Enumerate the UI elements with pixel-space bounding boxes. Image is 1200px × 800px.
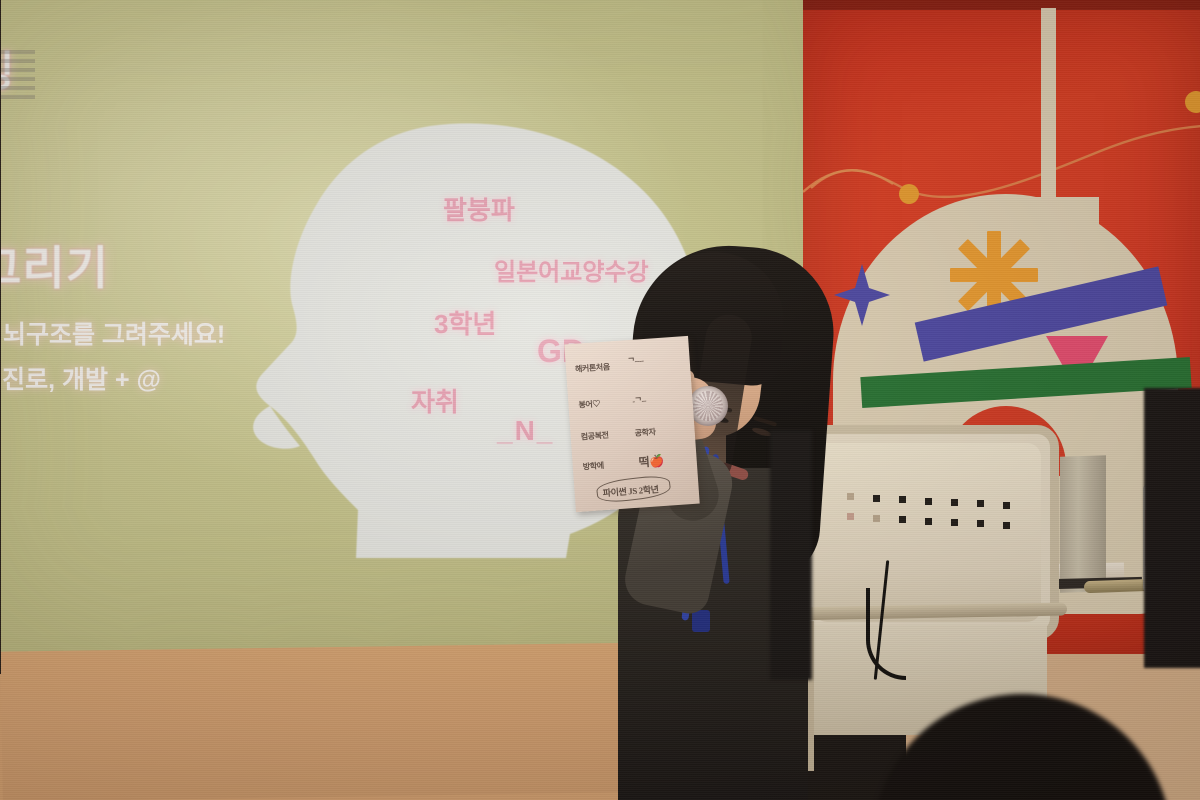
presentation-photo: 이킹 조 그리기 찾아 뇌구조를 그려주세요! BTI, 진로, 개발 + @ … [0,0,1200,800]
handwriting-line-2-left: 봉어♡ [578,398,600,410]
handwriting-line-4-left: 방학에 [582,460,604,472]
presenter: 해커톤처음 ᄀ---- 봉어♡ -ᄀ-- 컴공복전 공학자 방학에 떡🍎 파이썬… [600,218,900,800]
slide-subtitle-2: BTI, 진로, 개발 + @ [0,360,161,396]
bottle-ribs [1,50,35,112]
decorative-string [803,114,1200,204]
ornament-stick [1041,8,1056,204]
orange-dot-icon [1185,91,1200,113]
audience-silhouette-right [1144,388,1200,668]
brain-word-5: 자취 [411,382,459,419]
banner-top-shadow [803,0,1200,10]
slide-heading: 조 그리기 [0,232,109,298]
brain-word-1: 팔붕파 [443,190,515,227]
slide-subtitle-1: 찾아 뇌구조를 그려주세요! [0,315,225,351]
silver-laptop [1060,455,1106,593]
audience-silhouette-left [770,430,812,680]
handwriting-line-3-right: 공학자 [634,426,656,438]
badge-clip [692,610,710,632]
handwriting-line-4-right: 떡🍎 [638,452,664,471]
handwriting-line-1-left: 해커톤처음 [575,361,610,374]
brain-word-6: _N_ [497,415,554,447]
orange-dot-icon [899,184,919,204]
handwriting-line-1-right: ᄀ---- [627,355,644,367]
handwritten-worksheet: 해커톤처음 ᄀ---- 봉어♡ -ᄀ-- 컴공복전 공학자 방학에 떡🍎 파이썬… [564,336,699,512]
handheld-microphone [688,386,728,426]
brain-word-3: 3학년 [434,304,496,341]
handwriting-line-3-left: 컴공복전 [580,430,609,443]
handwriting-line-2-right: -ᄀ-- [632,395,646,407]
